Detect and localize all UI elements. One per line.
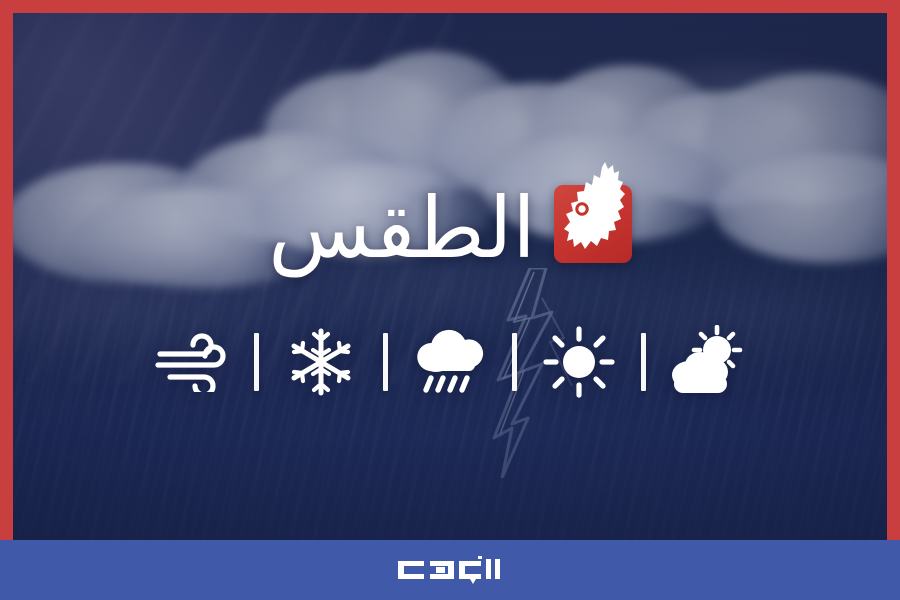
title-row: الطقس (13, 165, 887, 283)
weather-icon-partly-cloudy[interactable] (660, 316, 756, 408)
lebanon-map-logo[interactable] (554, 185, 632, 263)
weather-icon-snow[interactable] (273, 316, 369, 408)
icon-divider (383, 333, 388, 391)
al-modon-wordmark[interactable] (396, 553, 504, 587)
footer-bar (0, 540, 900, 600)
icon-divider (512, 333, 517, 391)
rain-cloud-icon (409, 326, 491, 398)
icon-divider (641, 333, 646, 391)
icon-divider (254, 333, 259, 391)
weather-icon-row (13, 316, 887, 408)
lebanon-map-icon (561, 161, 631, 261)
background-stage: الطقس (13, 13, 887, 540)
page-title: الطقس (268, 186, 535, 270)
snowflake-icon (286, 327, 356, 397)
weather-icon-wind[interactable] (144, 316, 240, 408)
sunny-icon (543, 326, 615, 398)
weather-icon-rain[interactable] (402, 316, 498, 408)
weather-card: الطقس (0, 0, 900, 600)
wind-icon (152, 332, 232, 392)
partly-cloudy-icon (665, 325, 751, 399)
weather-icon-sunny[interactable] (531, 316, 627, 408)
